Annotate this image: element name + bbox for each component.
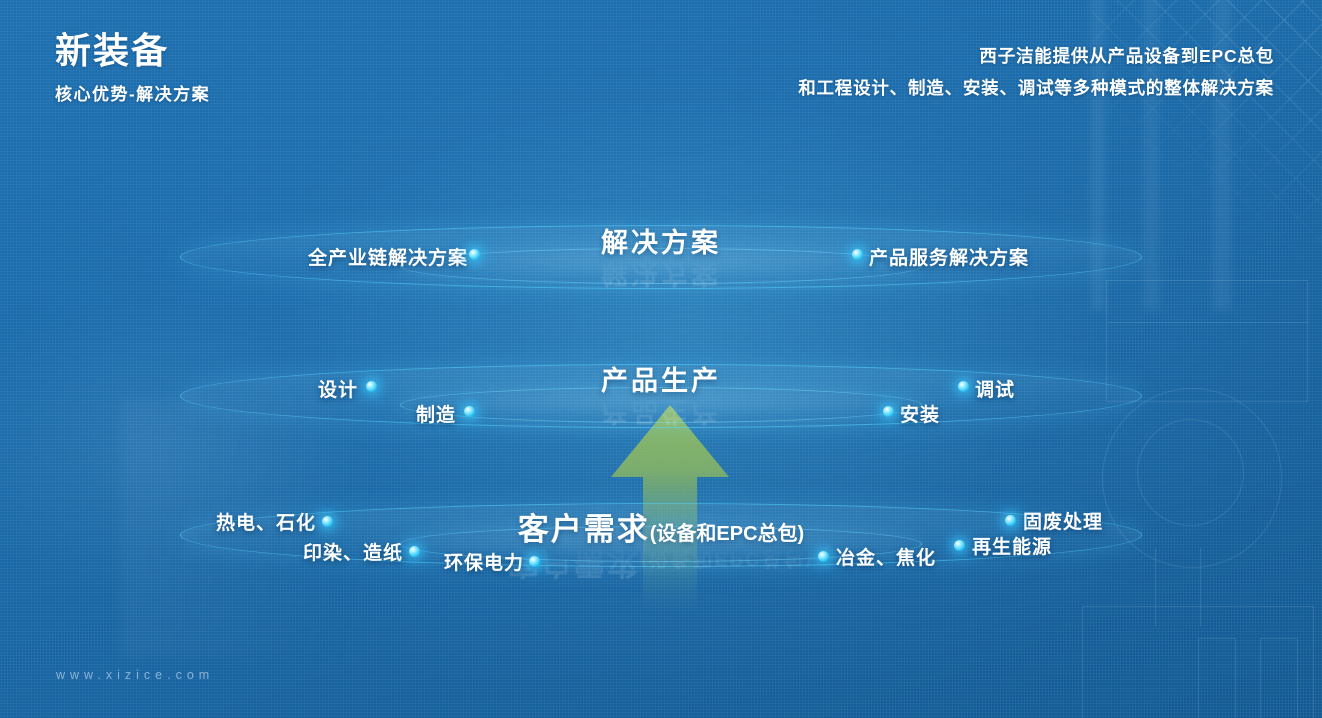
node-label: 产品服务解决方案 [869,248,1029,269]
node-label: 再生能源 [972,537,1052,558]
blueprint-base-box [1082,606,1314,718]
node-yejin-jiaohua[interactable]: 冶金、焦化 [836,543,936,570]
blueprint-bar-left [1198,638,1236,718]
node-label: 全产业链解决方案 [308,248,468,269]
node-label: 热电、石化 [216,513,316,534]
header-right-block: 西子洁能提供从产品设备到EPC总包 和工程设计、制造、安装、调试等多种模式的整体… [798,40,1274,105]
node-dot-icon [464,406,475,417]
node-label: 印染、造纸 [303,543,403,564]
node-dot-icon [958,381,969,392]
node-dot-icon [1005,515,1016,526]
node-yinran-zaozhi[interactable]: 印染、造纸 [303,538,403,565]
node-zhizao[interactable]: 制造 [416,400,456,427]
node-dot-icon [529,556,540,567]
node-tiaoshi[interactable]: 调试 [975,375,1015,402]
footer-website-url: www.xizice.com [56,668,214,682]
node-guf-chuli[interactable]: 固废处理 [1023,507,1103,534]
node-dot-icon [883,406,894,417]
node-zaisheng-nengyuan[interactable]: 再生能源 [972,532,1052,559]
node-sheji[interactable]: 设计 [318,375,358,402]
node-dot-icon [322,516,333,527]
header-tagline-line-1: 西子洁能提供从产品设备到EPC总包 [798,40,1274,72]
node-dot-icon [469,249,480,260]
node-dot-icon [954,540,965,551]
layer-production-title: 产品生产 [601,359,721,398]
header-tagline-line-2: 和工程设计、制造、安装、调试等多种模式的整体解决方案 [798,72,1274,104]
node-dot-icon [852,249,863,260]
node-quanchanyelian[interactable]: 全产业链解决方案 [308,243,468,270]
node-dot-icon [409,546,420,557]
header-left-block: 新装备 核心优势-解决方案 [55,30,210,105]
node-anzhuang[interactable]: 安装 [900,400,940,427]
node-label: 调试 [975,380,1015,401]
layer-customer-title: 客户需求(设备和EPC总包) [518,504,804,549]
node-label: 安装 [900,405,940,426]
node-chanpinfuwu[interactable]: 产品服务解决方案 [869,243,1029,270]
node-label: 冶金、焦化 [836,548,936,569]
blueprint-bar-right [1260,638,1298,718]
node-label: 固废处理 [1023,512,1103,533]
node-label: 制造 [416,405,456,426]
layer-solution-title: 解决方案 [601,221,721,260]
node-huanbao-dianli[interactable]: 环保电力 [444,548,524,575]
blueprint-stem [1155,548,1201,626]
node-dot-icon [366,381,377,392]
blueprint-top-line [1108,322,1308,323]
node-label: 设计 [318,380,358,401]
layer-solution-title-text: 解决方案 [601,228,721,258]
layer-customer-title-suffix: (设备和EPC总包) [650,523,804,545]
blueprint-inner-circle [1137,419,1244,526]
blueprint-top-box [1106,280,1308,402]
layer-production-title-text: 产品生产 [601,366,721,396]
node-redian-shihua[interactable]: 热电、石化 [216,508,316,535]
layer-customer-title-text: 客户需求 [518,512,650,547]
node-label: 环保电力 [444,553,524,574]
page-title: 新装备 [55,30,210,71]
page-subtitle: 核心优势-解决方案 [55,80,210,105]
slide-canvas: 新装备 核心优势-解决方案 西子洁能提供从产品设备到EPC总包 和工程设计、制造… [0,0,1322,718]
node-dot-icon [818,551,829,562]
